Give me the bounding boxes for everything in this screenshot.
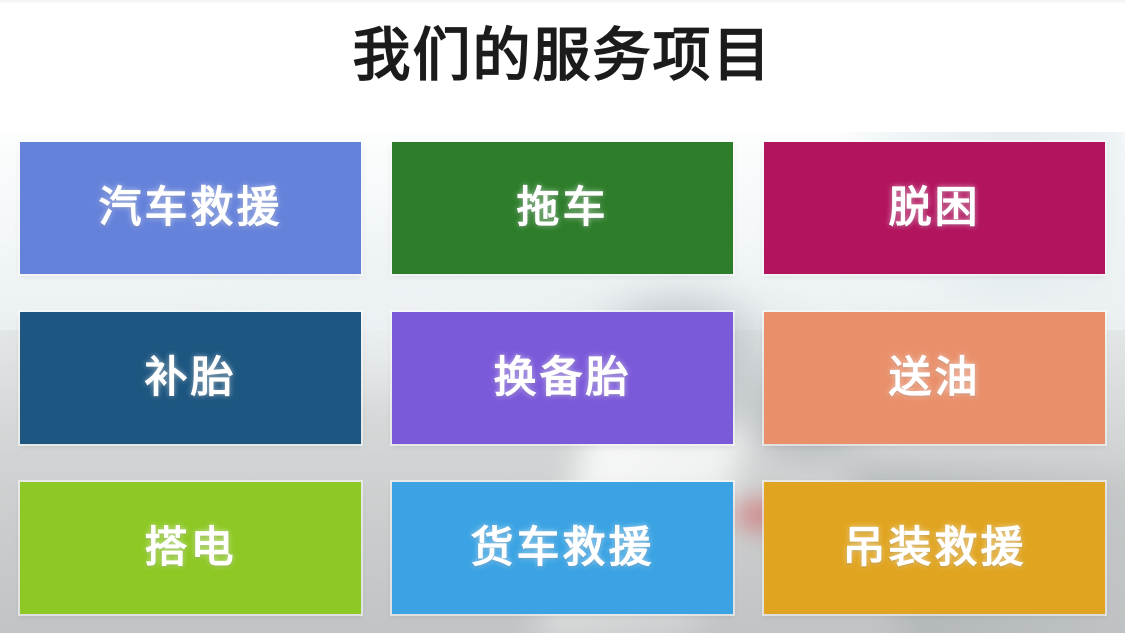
top-hairline (0, 0, 1125, 3)
tile-truck-rescue[interactable]: 货车救援 (392, 482, 733, 614)
service-tile-label: 汽车救援 (99, 183, 283, 233)
tile-spare-tire-change[interactable]: 换备胎 (392, 312, 733, 444)
tile-roadside-assistance[interactable]: 汽车救援 (20, 142, 361, 274)
service-tile-label: 吊装救援 (843, 523, 1027, 573)
service-tile-label: 拖车 (517, 183, 609, 233)
tile-towing[interactable]: 拖车 (392, 142, 733, 274)
service-tile-label: 换备胎 (494, 353, 632, 403)
service-tile-label: 搭电 (145, 523, 237, 573)
tile-crane-rescue[interactable]: 吊装救援 (764, 482, 1105, 614)
service-tile-grid: 汽车救援 拖车 脱困 补胎 换备胎 送油 搭电 货车救援 吊装救援 (20, 142, 1105, 614)
service-tile-label: 送油 (889, 353, 981, 403)
tile-tire-repair[interactable]: 补胎 (20, 312, 361, 444)
tile-fuel-delivery[interactable]: 送油 (764, 312, 1105, 444)
tile-extraction[interactable]: 脱困 (764, 142, 1105, 274)
tile-jump-start[interactable]: 搭电 (20, 482, 361, 614)
page-title-bar: 我们的服务项目 (0, 22, 1125, 90)
service-menu-screen: 我们的服务项目 汽车救援 拖车 脱困 补胎 换备胎 送油 搭电 货车救援 吊装救… (0, 0, 1125, 633)
service-tile-label: 补胎 (145, 353, 237, 403)
service-tile-label: 货车救援 (471, 523, 655, 573)
page-title: 我们的服务项目 (352, 22, 772, 90)
service-tile-label: 脱困 (889, 183, 981, 233)
